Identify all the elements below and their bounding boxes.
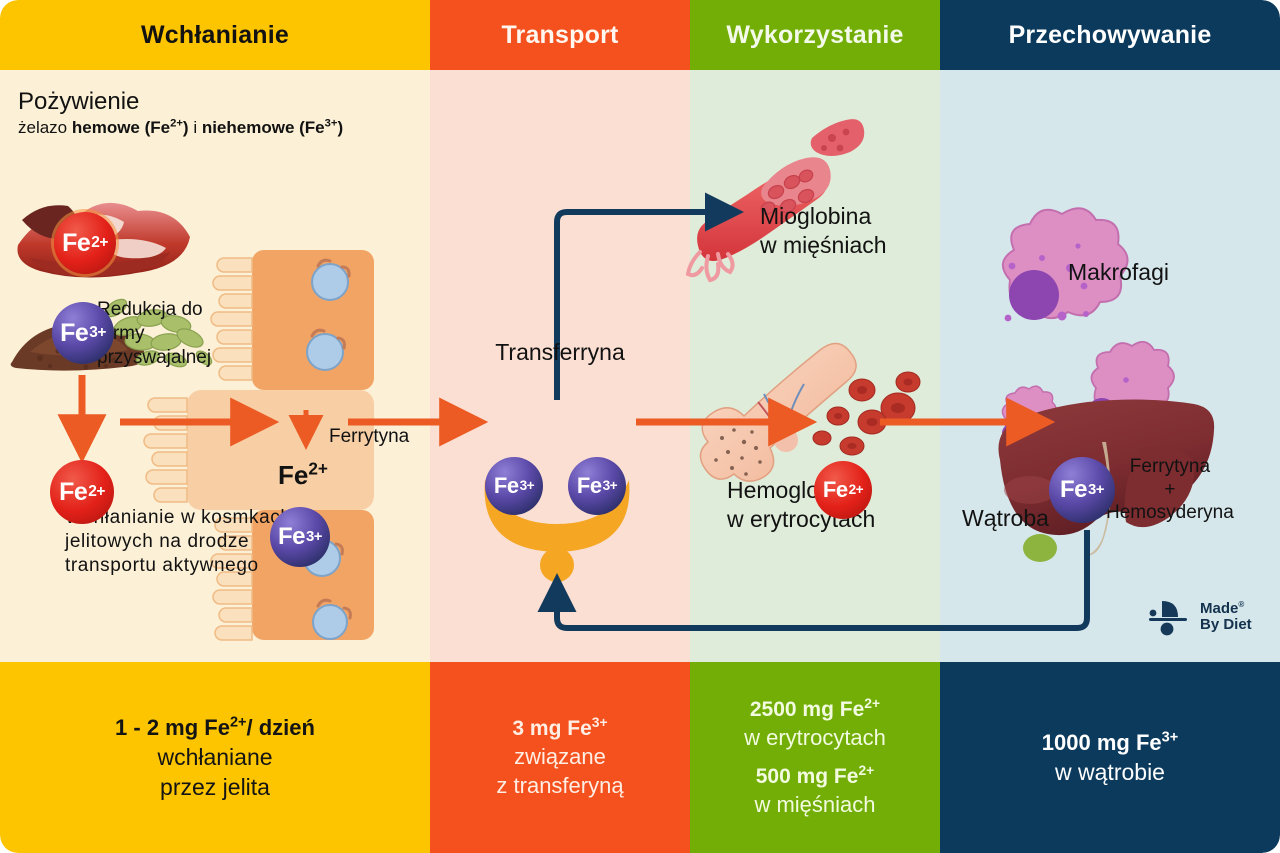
diagram-stage: Pożywienie żelazo hemowe (Fe2+) i niehem… [0, 70, 1280, 662]
stat-absorption-line3: przez jelita [160, 772, 270, 802]
header-transport: Transport [430, 0, 690, 70]
stat-absorption-amount: 1 - 2 mg Fe2+/ dzień [115, 713, 315, 742]
stat-transport-line3: z transferyną [496, 771, 623, 800]
stat-storage-where: w wątrobie [1055, 757, 1165, 787]
stat-muscles-where: w mięśniach [754, 790, 875, 819]
stat-storage: 1000 mg Fe3+ w wątrobie [940, 662, 1280, 853]
fe2-label-villi: Fe2+ [278, 460, 328, 491]
fe3-badge-transferrin-1: Fe3+ [485, 457, 543, 515]
stat-utilisation: 2500 mg Fe2+ w erytrocytach 500 mg Fe2+ … [690, 662, 940, 853]
stat-transport: 3 mg Fe3+ związane z transferyną [430, 662, 690, 853]
fe3-badge-liver: Fe3+ [1049, 457, 1115, 523]
stat-erythrocytes-where: w erytrocytach [744, 723, 886, 752]
brand-line-1: Made [1200, 600, 1238, 617]
ferritin-label: Ferrytyna [329, 425, 409, 449]
stats-footer: 1 - 2 mg Fe2+/ dzień wchłaniane przez je… [0, 662, 1280, 853]
stat-utilisation-muscles: 500 mg Fe2+ w mięśniach [754, 763, 875, 820]
header-utilisation: Wykorzystanie [690, 0, 940, 70]
infographic-root: Wchłanianie Transport Wykorzystanie Prze… [0, 0, 1280, 853]
liver-label: Wątroba [962, 504, 1049, 533]
stat-utilisation-erythrocytes: 2500 mg Fe2+ w erytrocytach [744, 696, 886, 753]
food-title: Pożywienie [18, 87, 139, 117]
storage-proteins-label: Ferrytyna+Hemosyderyna [1106, 456, 1234, 524]
stat-transport-line2: związane [514, 742, 606, 771]
macrophages-label: Makrofagi [1068, 258, 1169, 287]
bone-marrow-illustration [700, 343, 920, 481]
myoglobin-label: Mioglobinaw mięśniach [760, 202, 887, 260]
fe3-badge-ferritin: Fe3+ [270, 507, 330, 567]
stage-header: Wchłanianie Transport Wykorzystanie Prze… [0, 0, 1280, 70]
stat-absorption: 1 - 2 mg Fe2+/ dzień wchłaniane przez je… [0, 662, 430, 853]
stat-erythrocytes-amount: 2500 mg Fe2+ [744, 696, 886, 724]
brand-logo[interactable]: Made® By Diet [1148, 597, 1252, 637]
brand-registered: ® [1238, 600, 1244, 609]
fe3-badge-seeds: Fe3+ [52, 302, 114, 364]
header-absorption: Wchłanianie [0, 0, 430, 70]
fe3-badge-transferrin-2: Fe3+ [568, 457, 626, 515]
fe2-badge-reduced: Fe2+ [50, 460, 114, 524]
stat-absorption-line2: wchłaniane [157, 742, 272, 772]
stat-transport-amount: 3 mg Fe3+ [512, 715, 607, 743]
food-subtitle: żelazo hemowe (Fe2+) i niehemowe (Fe3+) [18, 117, 343, 138]
stat-muscles-amount: 500 mg Fe2+ [754, 763, 875, 791]
brand-line-2: By Diet [1200, 616, 1252, 633]
stat-storage-amount: 1000 mg Fe3+ [1042, 728, 1178, 757]
brand-logo-text: Made® By Diet [1200, 601, 1252, 634]
reduction-label: Redukcja doformyprzyswajalnej [97, 298, 211, 370]
transferrin-label: Transferryna [430, 338, 690, 367]
arrow-recycle-to-transferrin [557, 530, 1087, 628]
header-storage: Przechowywanie [940, 0, 1280, 70]
fe2-badge-meat: Fe2+ [54, 212, 116, 274]
fe2-badge-erythrocytes: Fe2+ [814, 461, 872, 519]
plate-droplet-icon [1148, 597, 1192, 637]
